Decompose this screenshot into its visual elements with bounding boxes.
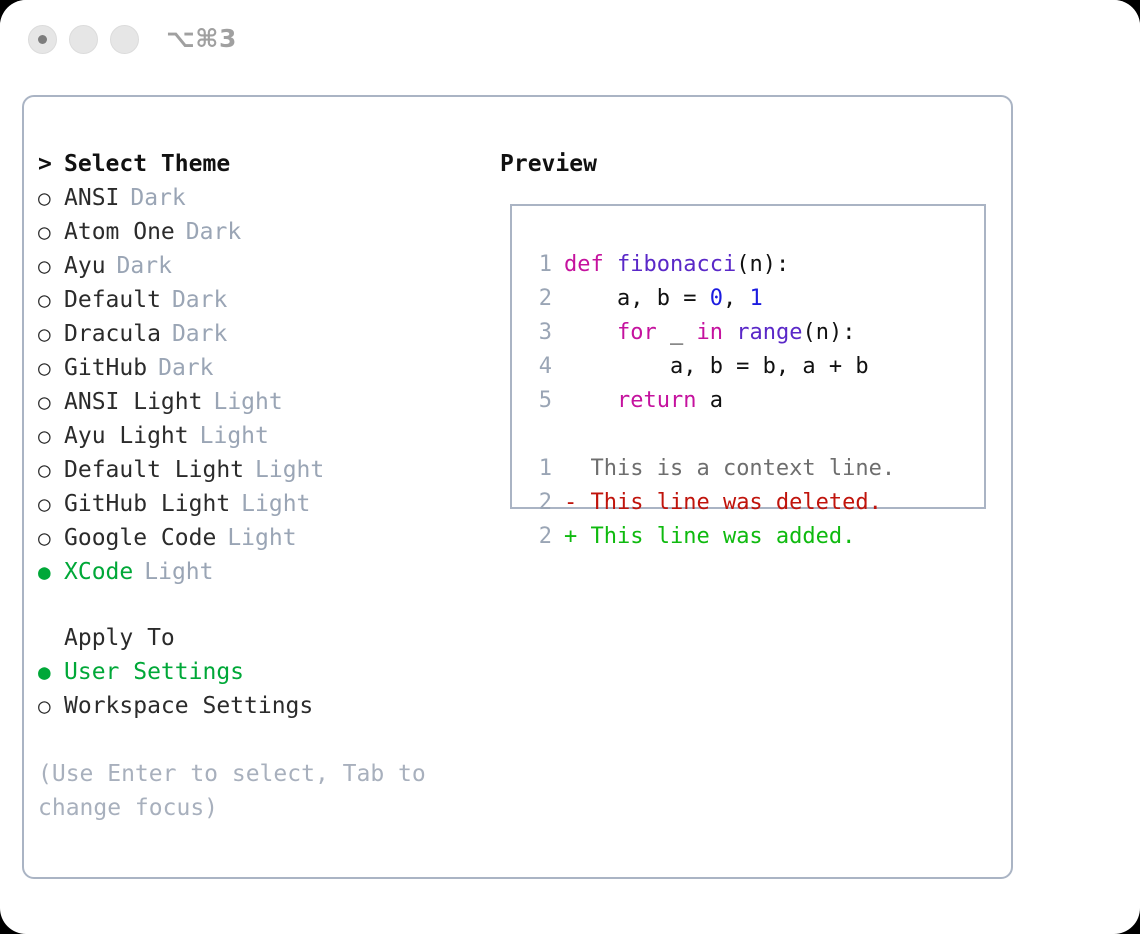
- theme-item-mode-badge: Light: [227, 521, 296, 555]
- record-button[interactable]: [28, 25, 57, 54]
- theme-item-default-light[interactable]: ○Default LightLight: [38, 453, 478, 487]
- theme-item-label: GitHub: [64, 351, 147, 385]
- theme-item-github-light[interactable]: ○GitHub LightLight: [38, 487, 478, 521]
- code-token: [564, 320, 617, 345]
- keyboard-shortcut-badge: ⌥⌘3: [166, 24, 237, 53]
- keyboard-hint-text: (Use Enter to select, Tab to change focu…: [38, 757, 458, 825]
- radio-unselected-icon: ○: [38, 521, 64, 555]
- code-token: in: [696, 320, 723, 345]
- code-token: fibonacci: [617, 252, 736, 277]
- theme-item-mode-badge: Light: [200, 419, 269, 453]
- theme-item-mode-badge: Light: [255, 453, 324, 487]
- theme-item-mode-badge: Dark: [130, 181, 185, 215]
- code-token: ,: [723, 286, 750, 311]
- theme-list-header-label: Select Theme: [64, 151, 230, 177]
- theme-item-mode-badge: Dark: [172, 283, 227, 317]
- theme-item-dracula[interactable]: ○DraculaDark: [38, 317, 478, 351]
- theme-item-label: Ayu: [64, 249, 106, 283]
- code-token: 1: [749, 286, 762, 311]
- theme-item-mode-badge: Light: [144, 555, 213, 589]
- diff-line-number: 2: [530, 486, 552, 520]
- code-line: 2 a, b = 0, 1: [530, 282, 978, 316]
- radio-unselected-icon: ○: [38, 487, 64, 521]
- code-token: _: [657, 320, 697, 345]
- theme-list-header: >Select Theme: [38, 147, 478, 181]
- code-token: return: [617, 388, 696, 413]
- tui-panel: >Select Theme ○ANSIDark○Atom OneDark○Ayu…: [22, 95, 1013, 879]
- theme-item-atom-one[interactable]: ○Atom OneDark: [38, 215, 478, 249]
- theme-item-mode-badge: Dark: [158, 351, 213, 385]
- theme-item-mode-badge: Light: [241, 487, 310, 521]
- code-token: a, b = b, a + b: [564, 354, 869, 379]
- theme-item-mode-badge: Dark: [172, 317, 227, 351]
- preview-box: 1def fibonacci(n):2 a, b = 0, 13 for _ i…: [510, 204, 986, 509]
- apply-to-group: Apply To ●User Settings○Workspace Settin…: [38, 621, 478, 723]
- code-line-number: 5: [530, 384, 552, 418]
- code-token: range: [736, 320, 802, 345]
- radio-unselected-icon: ○: [38, 215, 64, 249]
- selection-caret-icon: >: [38, 147, 64, 181]
- preview-title: Preview: [500, 147, 1000, 181]
- code-token: a, b =: [564, 286, 710, 311]
- radio-unselected-icon: ○: [38, 283, 64, 317]
- diff-marker: +: [564, 524, 577, 549]
- theme-item-label: Dracula: [64, 317, 161, 351]
- code-line: 5 return a: [530, 384, 978, 418]
- diff-line: 1 This is a context line.: [530, 452, 978, 486]
- code-line: 3 for _ in range(n):: [530, 316, 978, 350]
- theme-selector-list: >Select Theme ○ANSIDark○Atom OneDark○Ayu…: [38, 147, 478, 589]
- theme-item-label: Atom One: [64, 215, 175, 249]
- code-line-number: 4: [530, 350, 552, 384]
- diff-marker: [564, 456, 577, 481]
- window-titlebar: ⌥⌘3: [0, 0, 1140, 80]
- diff-line-number: 1: [530, 452, 552, 486]
- theme-rows-container: ○ANSIDark○Atom OneDark○AyuDark○DefaultDa…: [38, 181, 478, 589]
- code-token: [723, 320, 736, 345]
- theme-item-label: GitHub Light: [64, 487, 230, 521]
- code-line: 1def fibonacci(n):: [530, 248, 978, 282]
- code-token: 0: [710, 286, 723, 311]
- theme-item-mode-badge: Light: [213, 385, 282, 419]
- radio-selected-icon: ●: [38, 555, 64, 589]
- radio-unselected-icon: ○: [38, 317, 64, 351]
- radio-unselected-icon: ○: [38, 249, 64, 283]
- theme-item-ayu[interactable]: ○AyuDark: [38, 249, 478, 283]
- code-token: def: [564, 252, 617, 277]
- diff-line: 2- This line was deleted.: [530, 486, 978, 520]
- radio-unselected-icon: ○: [38, 453, 64, 487]
- window-control-three[interactable]: [110, 25, 139, 54]
- window-control-two[interactable]: [69, 25, 98, 54]
- diff-marker: -: [564, 490, 577, 515]
- app-window: ⌥⌘3 >Select Theme ○ANSIDark○Atom OneDark…: [0, 0, 1140, 934]
- diff-line: 2+ This line was added.: [530, 520, 978, 554]
- code-token: (n):: [802, 320, 855, 345]
- radio-unselected-icon: ○: [38, 181, 64, 215]
- theme-item-xcode[interactable]: ●XCodeLight: [38, 555, 478, 589]
- theme-item-ansi[interactable]: ○ANSIDark: [38, 181, 478, 215]
- apply-to-option-label: User Settings: [64, 655, 244, 689]
- diff-line-number: 2: [530, 520, 552, 554]
- preview-column: Preview 1def fibonacci(n):2 a, b = 0, 13…: [500, 147, 1000, 181]
- code-line-number: 2: [530, 282, 552, 316]
- radio-selected-icon: ●: [38, 655, 64, 689]
- theme-item-google-code[interactable]: ○Google CodeLight: [38, 521, 478, 555]
- window-controls: [28, 25, 139, 54]
- radio-unselected-icon: ○: [38, 351, 64, 385]
- theme-item-github[interactable]: ○GitHubDark: [38, 351, 478, 385]
- code-token: for: [617, 320, 657, 345]
- radio-unselected-icon: ○: [38, 385, 64, 419]
- theme-item-mode-badge: Dark: [186, 215, 241, 249]
- theme-item-ansi-light[interactable]: ○ANSI LightLight: [38, 385, 478, 419]
- code-token: (n):: [736, 252, 789, 277]
- diff-text: This line was added.: [577, 524, 855, 549]
- apply-to-rows-container: ●User Settings○Workspace Settings: [38, 655, 478, 723]
- apply-to-option-workspace-settings[interactable]: ○Workspace Settings: [38, 689, 478, 723]
- code-line-number: 1: [530, 248, 552, 282]
- code-preview-area: 1def fibonacci(n):2 a, b = 0, 13 for _ i…: [530, 248, 978, 554]
- theme-item-ayu-light[interactable]: ○Ayu LightLight: [38, 419, 478, 453]
- theme-item-label: XCode: [64, 555, 133, 589]
- theme-item-label: Default: [64, 283, 161, 317]
- diff-text: This line was deleted.: [577, 490, 882, 515]
- code-blank-line: [530, 418, 978, 452]
- record-dot-icon: [38, 35, 47, 44]
- apply-to-header: Apply To: [38, 621, 478, 655]
- theme-item-default[interactable]: ○DefaultDark: [38, 283, 478, 317]
- theme-item-label: ANSI: [64, 181, 119, 215]
- code-token: a: [696, 388, 723, 413]
- theme-item-label: Default Light: [64, 453, 244, 487]
- code-line-number: 3: [530, 316, 552, 350]
- diff-text: This is a context line.: [577, 456, 895, 481]
- radio-unselected-icon: ○: [38, 419, 64, 453]
- apply-to-option-user-settings[interactable]: ●User Settings: [38, 655, 478, 689]
- theme-item-label: Google Code: [64, 521, 216, 555]
- radio-unselected-icon: ○: [38, 689, 64, 723]
- code-line: 4 a, b = b, a + b: [530, 350, 978, 384]
- theme-item-label: ANSI Light: [64, 385, 202, 419]
- theme-item-mode-badge: Dark: [117, 249, 172, 283]
- theme-item-label: Ayu Light: [64, 419, 189, 453]
- apply-to-option-label: Workspace Settings: [64, 689, 313, 723]
- code-token: [564, 388, 617, 413]
